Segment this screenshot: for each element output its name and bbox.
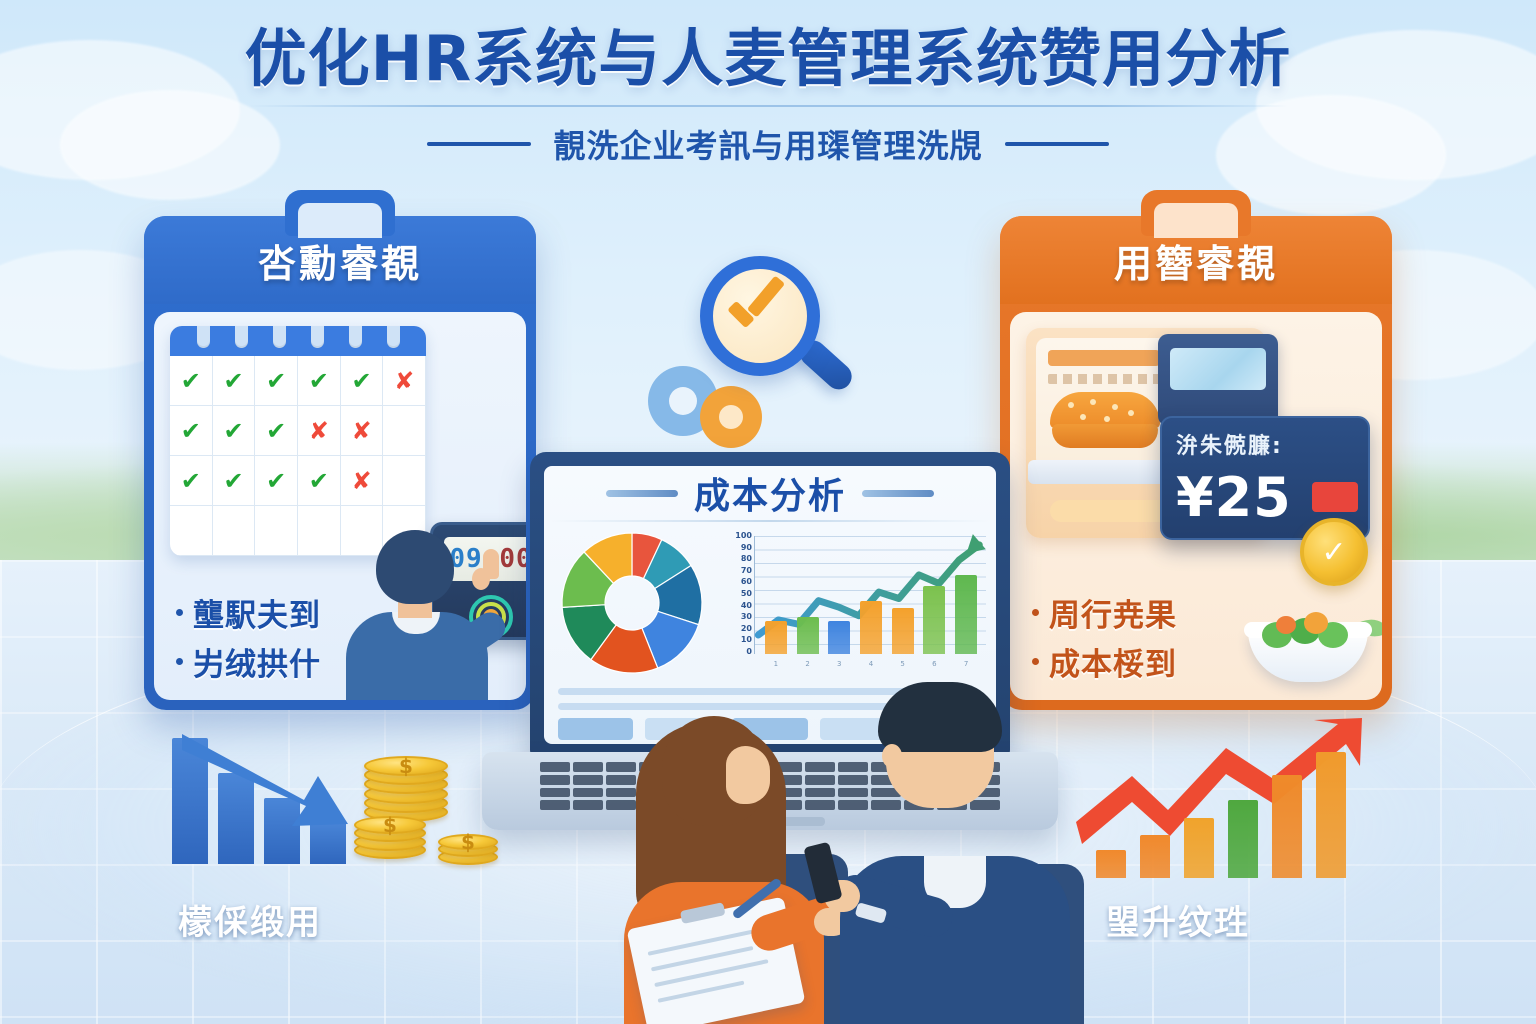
tray-label-strip [1048,374,1166,384]
page-title: 优化HR系统与人麦管理系统赞用分析 [0,26,1536,91]
attendance-bullets: 壟駅夫到 屴绒拱什 [176,590,321,688]
attendance-calendar[interactable]: ✔✔✔✔✔✘✔✔✔✘✘✔✔✔✔✘ [170,326,426,556]
y-tick-label: 30 [741,613,752,621]
calendar-grid: ✔✔✔✔✔✘✔✔✔✘✘✔✔✔✔✘ [170,356,426,556]
pos-terminal[interactable] [1158,334,1278,426]
man-illustration [830,680,1080,1024]
infographic-canvas: 优化HR系统与人麦管理系统赞用分析 靚洗企业考訊与用璖管理洗覑 呇勳睿覩 ✔✔✔… [0,0,1536,1024]
keyboard-key[interactable] [573,788,603,798]
bar [1140,835,1170,878]
pos-screen [1170,348,1266,390]
card-meal[interactable]: 用簪睿覩 [1000,216,1392,710]
donut-chart[interactable] [544,528,720,678]
keyboard-key[interactable] [573,800,603,810]
dashboard-charts: 1009080706050403020100 1234567 [544,528,996,678]
employees-illustration [600,660,1080,1024]
bar [765,621,787,654]
bullet-dot [176,609,183,616]
dashboard-title: 成本分析 [694,467,846,519]
y-tick-label: 40 [741,602,752,610]
y-tick-label: 20 [741,625,752,633]
bar [1228,800,1258,878]
subtitle-row: 靚洗企业考訊与用璖管理洗覑 [0,121,1536,167]
bar [828,621,850,654]
y-tick-label: 100 [735,532,752,540]
card-handle [285,190,395,236]
calendar-cell [255,506,298,556]
bar [1096,850,1126,878]
calendar-cell [383,406,426,456]
coin-check-icon: ✓ [1300,518,1368,586]
title-rule-left [606,490,678,497]
salad-bowl-illustration [1248,608,1368,682]
bar-chart-bars [760,544,982,654]
calendar-cell: ✔ [213,356,256,406]
price-label: 㳎朱鿙臁: [1176,428,1354,460]
coin-icon: $ [364,756,448,776]
calendar-cell: ✔ [213,406,256,456]
page-subtitle: 靚洗企业考訊与用璖管理洗覑 [553,121,982,167]
bar [1272,775,1302,878]
donut-chart-svg [557,528,707,678]
card-attendance-body: ✔✔✔✔✔✘✔✔✔✘✘✔✔✔✔✘ 09:00 壟駅夫到 [154,312,526,700]
burger-icon [1050,392,1160,448]
calendar-cell: ✘ [298,406,341,456]
header: 优化HR系统与人麦管理系统赞用分析 靚洗企业考訊与用璖管理洗覑 [0,26,1536,167]
coin-icon: $ [438,834,498,850]
calendar-header-band [170,326,426,356]
bar-chart[interactable]: 1009080706050403020100 1234567 [720,528,996,678]
keyboard-key[interactable] [573,762,603,772]
coin-icon: $ [354,816,426,834]
calendar-cell: ✔ [170,356,213,406]
bottom-left-label: 檬倸缎用 [178,895,322,944]
bullet-label: 屴绒拱什 [193,639,321,684]
calendar-cell: ✔ [213,456,256,506]
check-icon [726,288,788,334]
employee-clocking-in-illustration [342,530,492,700]
tray-barcode [1048,350,1160,366]
keyboard-key[interactable] [573,775,603,785]
currency-symbol: $ [440,830,496,854]
calendar-cell: ✔ [341,356,384,406]
subtitle-rule-right [1005,142,1109,146]
calendar-cell: ✔ [298,456,341,506]
title-divider [248,105,1288,107]
down-arrow-icon [176,726,356,836]
y-tick-label: 70 [741,567,752,575]
magnifier-check-icon [700,256,850,406]
coin-stacks: $$$ [354,738,544,888]
bar [955,575,977,654]
card-handle [1141,190,1251,236]
subtitle-rule-left [427,142,531,146]
screen-title-row: 成本分析 [544,466,996,520]
calendar-cell [383,456,426,506]
price-badge [1312,482,1358,512]
calendar-cell: ✔ [298,356,341,406]
bullet-label: 周行尭果 [1049,590,1177,635]
calendar-cell: ✔ [255,356,298,406]
bar-chart-y-axis: 1009080706050403020100 [724,532,752,656]
rising-bar-chart [1096,748,1346,878]
calendar-cell: ✔ [255,456,298,506]
calendar-cell: ✔ [170,456,213,506]
bar [892,608,914,654]
calendar-cell: ✔ [170,406,213,456]
efficiency-growth-block: 琞升纹珄 [1076,718,1416,948]
y-tick-label: 50 [741,590,752,598]
calendar-cell [170,506,213,556]
calendar-rings [170,326,426,344]
card-attendance[interactable]: 呇勳睿覩 ✔✔✔✔✔✘✔✔✔✘✘✔✔✔✔✘ 09:00 [144,216,536,710]
cost-reduction-block: $$$ 檬倸缎用 [158,718,558,948]
bottom-right-label: 琞升纹珄 [1106,895,1250,944]
calendar-cell: ✘ [383,356,426,406]
y-tick-label: 0 [746,648,752,656]
calendar-cell: ✘ [341,406,384,456]
woman-illustration [600,694,840,1024]
calendar-cell [298,506,341,556]
calendar-cell: ✔ [255,406,298,456]
bar [860,601,882,654]
bar [1316,752,1346,878]
y-tick-label: 10 [741,636,752,644]
bar [1184,818,1214,878]
list-item: 壟駅夫到 [176,590,321,635]
list-item: 屴绒拱什 [176,639,321,684]
currency-symbol: $ [356,813,424,837]
title-rule-right [862,490,934,497]
calendar-cell [213,506,256,556]
currency-symbol: $ [366,754,446,778]
card-meal-body: 㳎朱鿙臁: ¥25 ✓ 周行尭果 成本桵到 [1010,312,1382,700]
y-tick-label: 80 [741,555,752,563]
bullet-label: 壟駅夫到 [193,590,321,635]
bar [797,617,819,654]
calendar-cell: ✘ [341,456,384,506]
screen-divider [550,520,990,522]
bullet-dot [176,658,183,665]
y-tick-label: 90 [741,544,752,552]
bar [923,586,945,654]
y-tick-label: 60 [741,578,752,586]
